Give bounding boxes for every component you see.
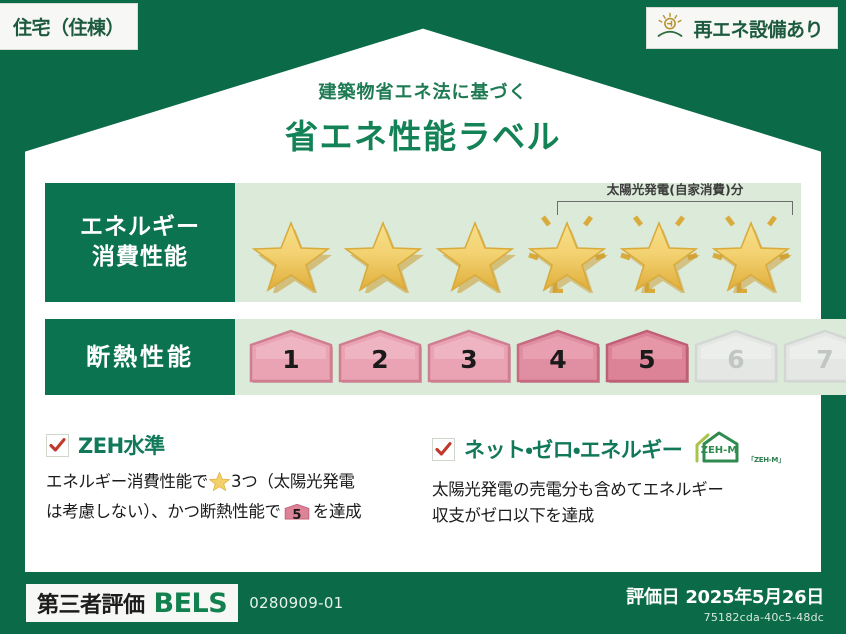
criteria-zeh-desc-part1: エネルギー消費性能で [46,472,208,491]
inline-grade-badge-icon: 5 [284,502,310,530]
footer-bar: 第三者評価 BELS 0280909-01 評価日 2025年5月26日 751… [0,572,846,634]
criteria-net-zero-energy: ネット・ゼロ・エネルギー ZEH-M 「ZEH-M」 太陽光発電の売電分も含めて… [432,430,832,528]
svg-text:ZEH-M: ZEH-M [701,445,738,456]
zeh-m-house-icon: ZEH-M [693,430,745,468]
criteria-zeh-description: エネルギー消費性能で3つ（太陽光発電は考慮しない）、かつ断熱性能で5を達成 [46,469,414,529]
criteria-zeh-title: ZEH水準 [78,430,165,460]
energy-performance-label: エネルギー 消費性能 [45,183,235,302]
badge-building-type-label: 住宅（住棟） [13,13,124,40]
bels-japanese-label: 第三者評価 [37,587,145,619]
criteria-zeh-desc-part2: は考慮しない）、かつ断熱性能で [46,502,281,521]
insulation-performance-row: 断熱性能 1 2 [45,319,801,395]
energy-star-1 [247,209,335,293]
page-subtitle: 建築物省エネ法に基づく [0,78,846,104]
bels-certificate-number: 0280909-01 [249,594,343,612]
zeh-m-logo-caption: 「ZEH-M」 [747,455,785,468]
energy-star-solar-6 [707,209,795,293]
insulation-grade-7-number: 7 [781,345,846,374]
insulation-grade-5-number: 5 [603,345,691,374]
evaluation-date: 評価日 2025年5月26日 [626,583,824,609]
insulation-grade-6-number: 6 [692,345,780,374]
nze-checkbox-checked-icon[interactable] [432,438,455,461]
badge-renewable-equipment: 再エネ設備あり [646,7,838,49]
zeh-checkbox-checked-icon[interactable] [46,434,69,457]
insulation-performance-label: 断熱性能 [45,319,235,395]
inline-grade-number: 5 [284,506,310,526]
criteria-nze-desc-line1: 太陽光発電の売電分も含めてエネルギー [432,480,724,499]
insulation-grade-4-number: 4 [514,345,602,374]
insulation-performance-body: 1 2 3 [235,319,846,395]
insulation-grade-1-number: 1 [247,345,335,374]
badge-renewable-label: 再エネ設備あり [693,15,823,42]
criteria-nze-description: 太陽光発電の売電分も含めてエネルギー収支がゼロ以下を達成 [432,477,832,528]
bels-logo-text: BELS [154,588,228,619]
criteria-nze-title: ネット・ゼロ・エネルギー [464,434,682,464]
insulation-grade-2: 2 [336,329,424,385]
renewable-sun-icon [655,11,685,45]
criteria-zeh-desc-part3: を達成 [313,502,362,521]
energy-star-rating [247,209,795,293]
insulation-grade-3: 3 [425,329,513,385]
insulation-grade-4: 4 [514,329,602,385]
insulation-grade-6: 6 [692,329,780,385]
inline-star-icon [209,471,230,499]
insulation-grade-scale: 1 2 3 [247,329,846,385]
energy-label-card: 住宅（住棟） 再エネ設備あり 建築物省エネ法に基づく 省エネ性能ラベル [0,0,846,634]
insulation-grade-1: 1 [247,329,335,385]
energy-performance-body: 太陽光発電(自家消費)分 [235,183,801,302]
energy-label-line2: 消費性能 [92,243,188,272]
evaluation-info: 評価日 2025年5月26日 75182cda-40c5-48dc [626,583,824,624]
energy-star-solar-5 [615,209,703,293]
evaluation-date-value: 2025年5月26日 [685,587,824,608]
criteria-nze-header: ネット・ゼロ・エネルギー ZEH-M 「ZEH-M」 [432,430,832,468]
page-title-block: 建築物省エネ法に基づく 省エネ性能ラベル [0,78,846,158]
evaluation-uuid: 75182cda-40c5-48dc [626,611,824,624]
criteria-zeh: ZEH水準 エネルギー消費性能で3つ（太陽光発電は考慮しない）、かつ断熱性能で5… [46,430,414,529]
insulation-grade-7: 7 [781,329,846,385]
criteria-zeh-header: ZEH水準 [46,430,414,460]
insulation-grade-3-number: 3 [425,345,513,374]
zeh-m-logo: ZEH-M 「ZEH-M」 [693,430,785,468]
page-title: 省エネ性能ラベル [0,110,846,158]
energy-star-solar-4 [523,209,611,293]
evaluation-date-label: 評価日 [626,587,679,608]
energy-performance-row: エネルギー 消費性能 太陽光発電(自家消費)分 [45,183,801,302]
energy-label-line1: エネルギー [80,213,200,242]
bels-certification-badge: 第三者評価 BELS [26,584,238,622]
energy-star-2 [339,209,427,293]
energy-star-3 [431,209,519,293]
criteria-zeh-desc-stars: 3つ（太陽光発電 [231,472,355,491]
badge-building-type: 住宅（住棟） [0,3,138,50]
criteria-nze-desc-line2: 収支がゼロ以下を達成 [432,506,594,525]
insulation-grade-2-number: 2 [336,345,424,374]
insulation-grade-5: 5 [603,329,691,385]
